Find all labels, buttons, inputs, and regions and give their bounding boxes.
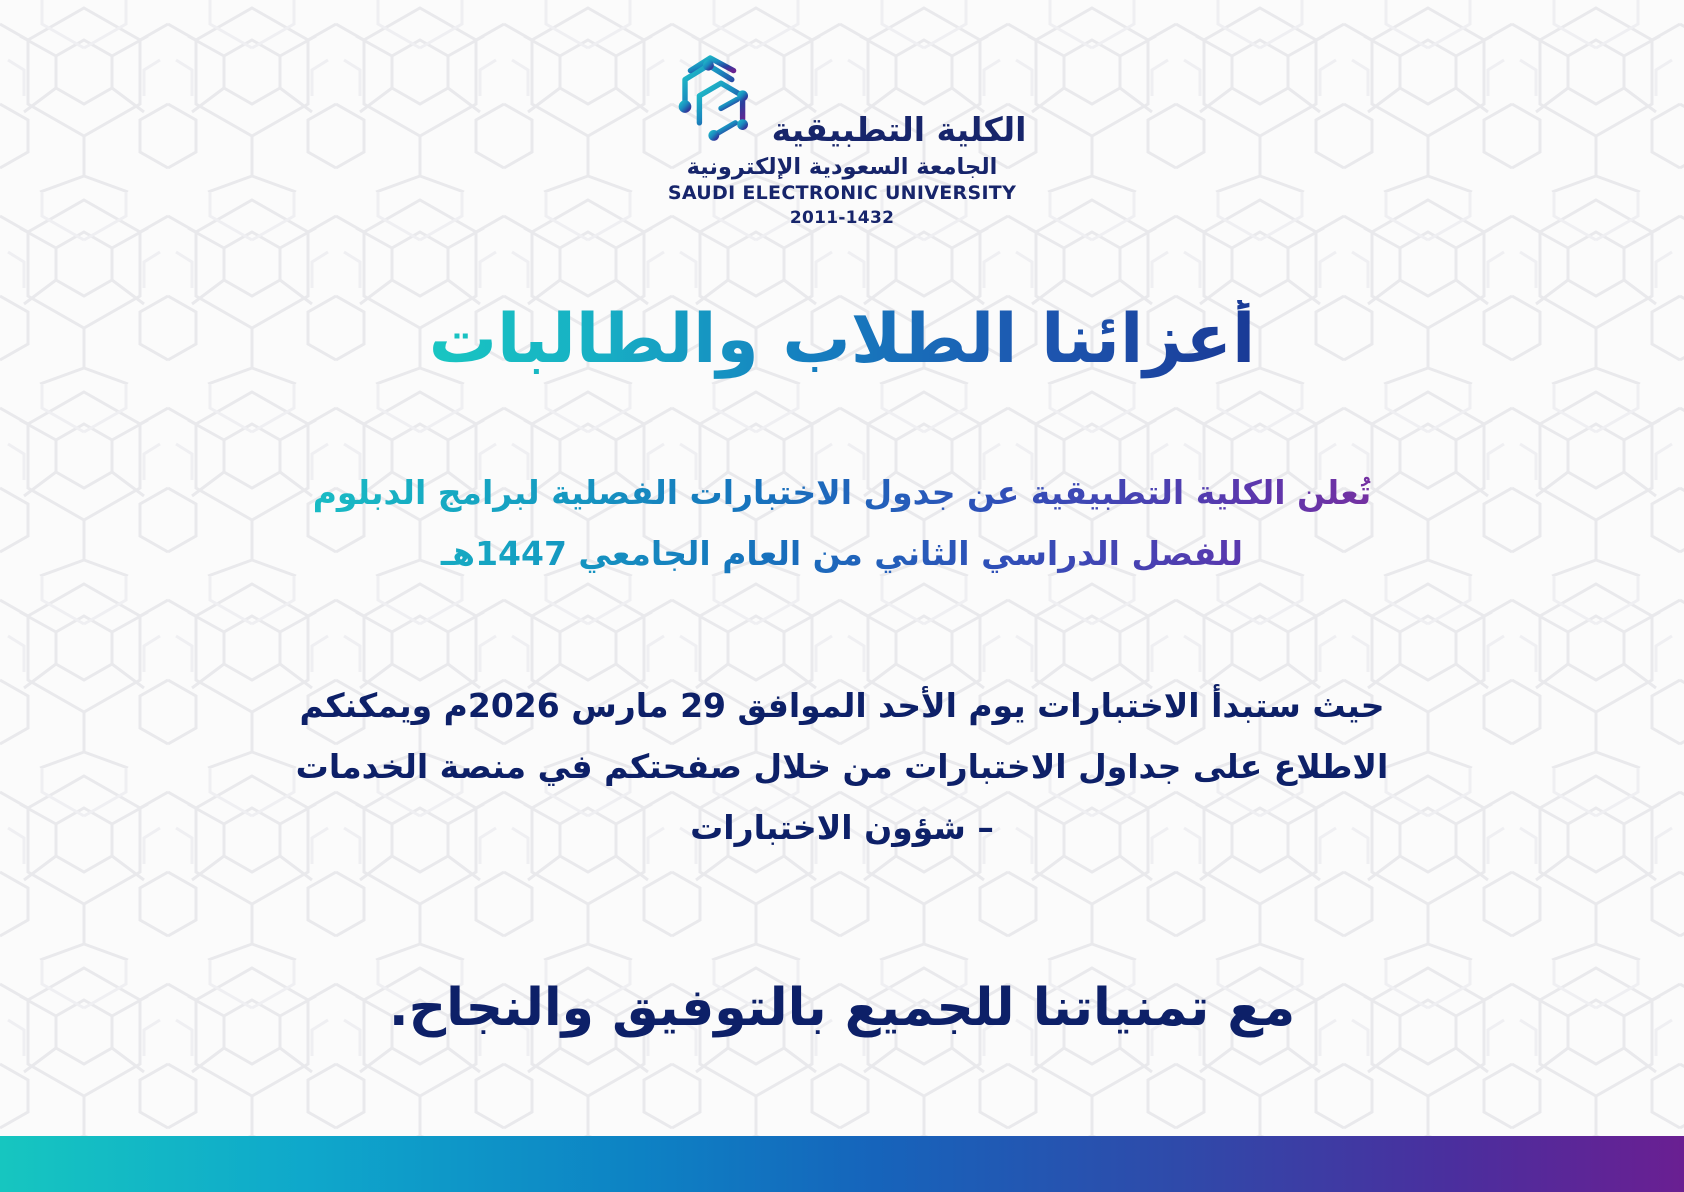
logo-arabic-college-name: الكلية التطبيقية bbox=[772, 113, 1027, 150]
logo-founding-years: 2011-1432 bbox=[790, 208, 894, 228]
announcement-poster: الكلية التطبيقية الجامعة السعودية الإلكت… bbox=[0, 0, 1684, 1192]
seu-hexagon-circuit-mark-icon bbox=[658, 40, 766, 148]
logo-arabic-university-name: الجامعة السعودية الإلكترونية bbox=[687, 155, 998, 181]
announcement-paragraph-primary: تُعلن الكلية التطبيقية عن جدول الاختبارا… bbox=[282, 462, 1402, 584]
logo-top-row: الكلية التطبيقية bbox=[632, 40, 1052, 150]
logo-english-university-name: SAUDI ELECTRONIC UNIVERSITY bbox=[668, 183, 1016, 205]
closing-wishes-text: مع تمنياتنا للجميع بالتوفيق والنجاح. bbox=[389, 977, 1295, 1039]
page-title: أعزائنا الطلاب والطالبات bbox=[429, 300, 1256, 380]
poster-content: الكلية التطبيقية الجامعة السعودية الإلكت… bbox=[0, 0, 1684, 1192]
announcement-paragraph-details: حيث ستبدأ الاختبارات يوم الأحد الموافق 2… bbox=[282, 675, 1402, 858]
footer-gradient-bar bbox=[0, 1136, 1684, 1192]
seu-logo: الكلية التطبيقية الجامعة السعودية الإلكت… bbox=[632, 40, 1052, 228]
